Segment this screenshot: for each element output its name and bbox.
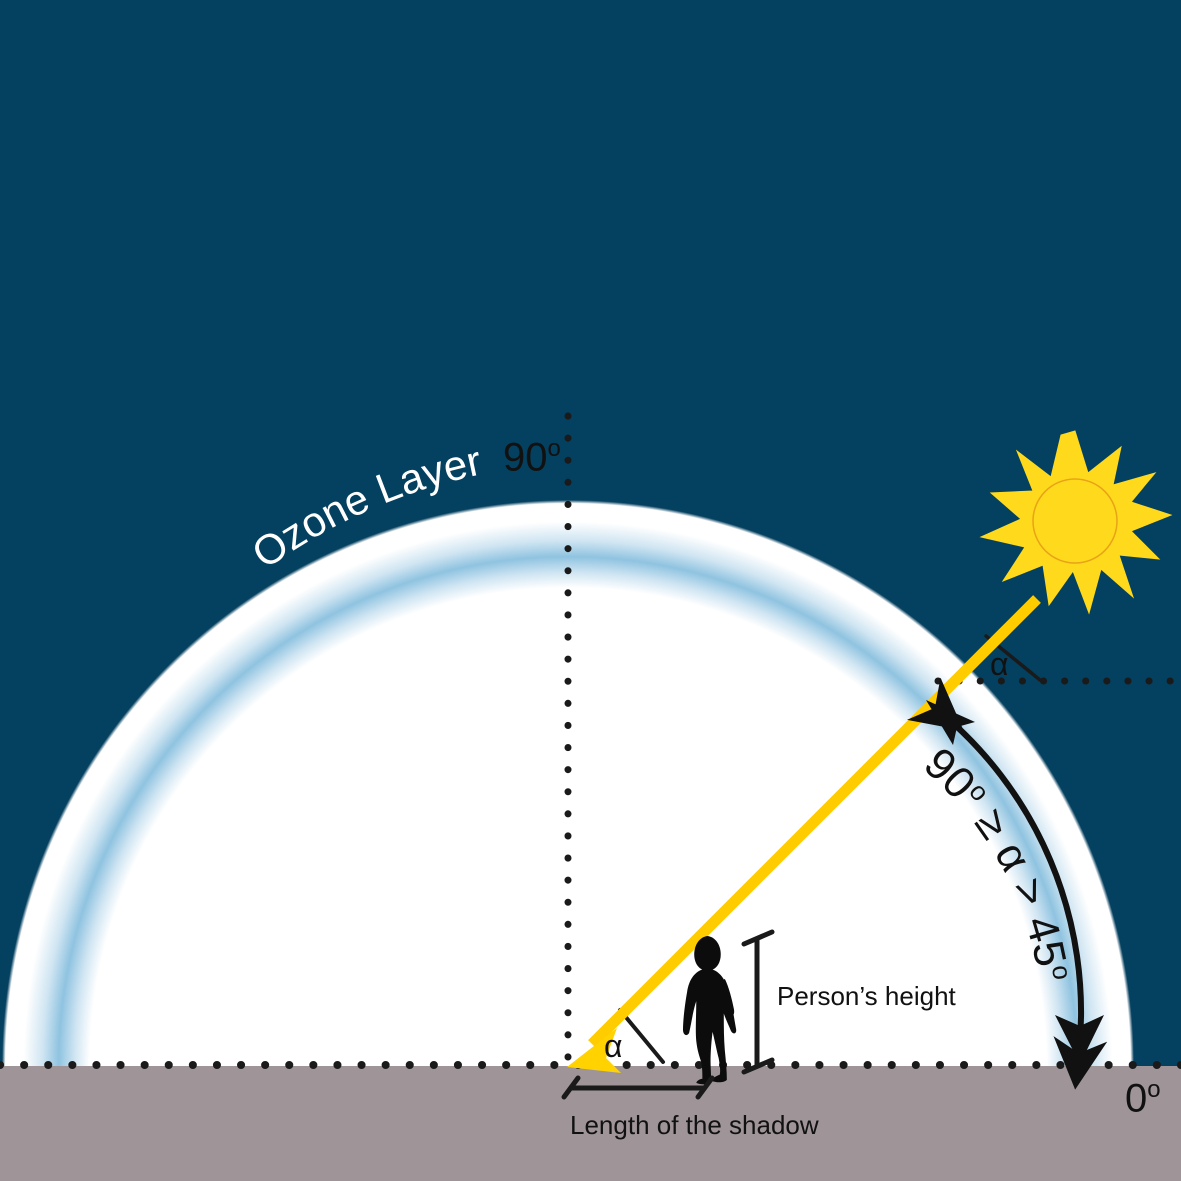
diagram-canvas: 90o ≥ α > 45o Ozone Layer bbox=[0, 0, 1181, 1181]
diagram-svg: 90o ≥ α > 45o Ozone Layer bbox=[0, 0, 1181, 1181]
zenith-angle-degree-symbol: o bbox=[548, 435, 562, 462]
horizon-angle-degree-symbol: o bbox=[1147, 1076, 1160, 1103]
horizon-angle-label: 0o bbox=[1125, 1078, 1161, 1118]
shadow-length-label: Length of the shadow bbox=[570, 1112, 819, 1138]
horizon-angle-value: 0 bbox=[1125, 1076, 1147, 1120]
zenith-angle-value: 90 bbox=[503, 435, 548, 479]
alpha-top-label: α bbox=[990, 648, 1009, 680]
zenith-angle-label: 90o bbox=[503, 437, 561, 477]
alpha-bottom-label: α bbox=[604, 1030, 623, 1062]
person-height-label: Person’s height bbox=[777, 983, 956, 1009]
